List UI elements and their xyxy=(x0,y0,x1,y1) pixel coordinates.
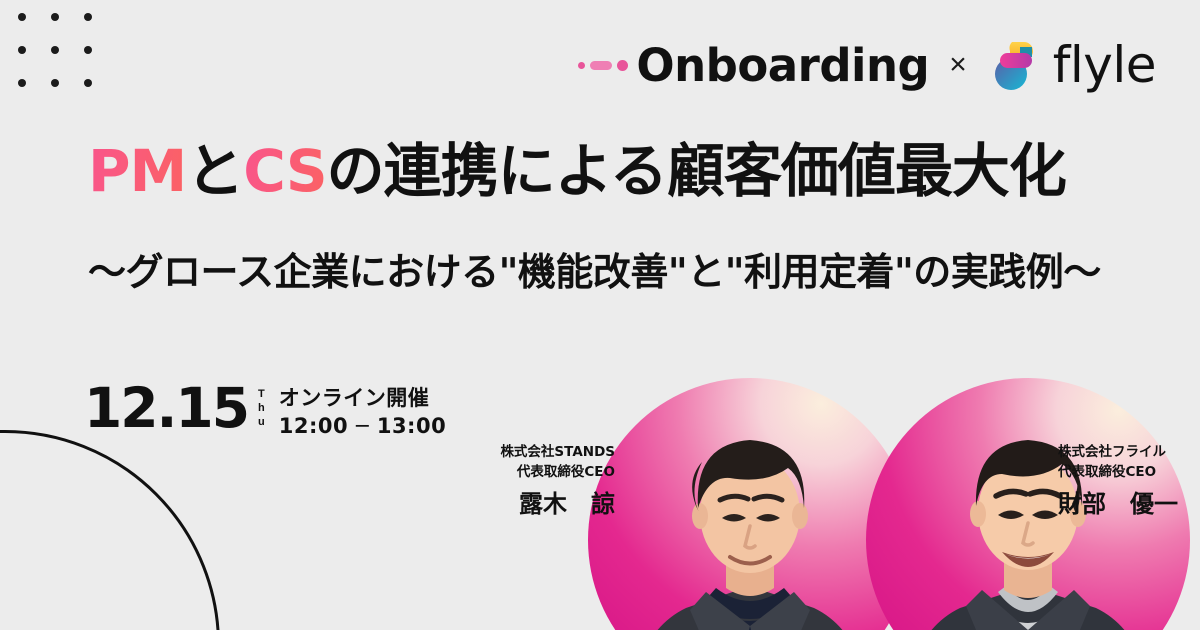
dow-letter-h: h xyxy=(258,402,265,416)
title-highlight-pm: PM xyxy=(88,137,186,205)
speaker-company-left: 株式会社STANDS xyxy=(470,443,615,463)
event-format-label: オンライン開催 xyxy=(279,384,446,412)
collaboration-cross-icon: × xyxy=(947,50,969,80)
title-rest: の連携による顧客価値最大化 xyxy=(327,137,1066,205)
speaker-portrait-tsuyuki xyxy=(588,378,912,630)
speaker-photo-circle-left xyxy=(588,378,912,630)
speaker-company-right: 株式会社フライル xyxy=(1058,443,1200,463)
dot-grid-decoration xyxy=(18,13,98,93)
logo-row: Onboarding × xyxy=(578,34,1156,96)
title-connector: と xyxy=(186,137,243,205)
speaker-caption-right: 株式会社フライル 代表取締役CEO 財部 優一 xyxy=(1058,443,1200,519)
flyle-logo: flyle xyxy=(987,36,1156,94)
page-title: PMとCSの連携による顧客価値最大化 xyxy=(88,138,1108,205)
speaker-name-left: 露木 諒 xyxy=(470,489,615,519)
title-highlight-cs: CS xyxy=(243,137,326,205)
speaker-role-left: 代表取締役CEO xyxy=(470,463,615,483)
event-day-of-week: T h u xyxy=(258,388,265,429)
arc-decoration xyxy=(0,430,220,630)
flyle-wordmark: flyle xyxy=(1053,40,1156,90)
speaker-caption-left: 株式会社STANDS 代表取締役CEO 露木 諒 xyxy=(470,443,615,519)
onboarding-wordmark: Onboarding xyxy=(636,43,929,88)
onboarding-dot-medium-icon xyxy=(617,60,628,71)
onboarding-dot-small-icon xyxy=(578,62,585,69)
page-subtitle: 〜グロース企業における"機能改善"と"利用定着"の実践例〜 xyxy=(88,250,1118,296)
event-date: 12.15 xyxy=(84,382,248,434)
dow-letter-t: T xyxy=(258,388,265,402)
dow-letter-u: u xyxy=(258,416,265,430)
onboarding-dash-icon xyxy=(590,61,612,70)
flyle-mark-icon xyxy=(987,36,1043,94)
onboarding-logo: Onboarding xyxy=(578,43,929,88)
event-info: オンライン開催 12:00 ─ 13:00 xyxy=(279,384,446,441)
webinar-banner: Onboarding × xyxy=(0,0,1200,630)
speaker-name-right: 財部 優一 xyxy=(1058,489,1200,519)
event-time: 12:00 ─ 13:00 xyxy=(279,412,446,440)
event-date-block: 12.15 T h u オンライン開催 12:00 ─ 13:00 xyxy=(84,382,446,441)
speaker-role-right: 代表取締役CEO xyxy=(1058,463,1200,483)
